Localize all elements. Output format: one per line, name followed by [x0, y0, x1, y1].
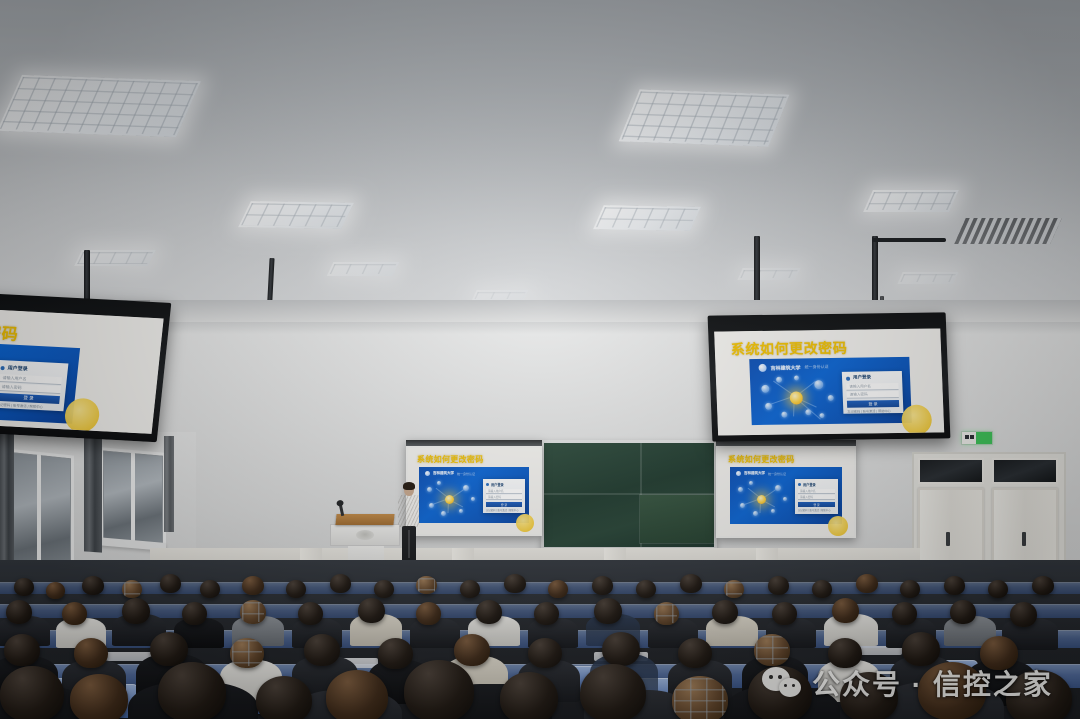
audience-head-foreground [1006, 670, 1072, 719]
presenter-legs [402, 526, 416, 564]
audience-head [242, 576, 264, 595]
slide-surface: 系统如何更改密码 吉林建筑大学 统一身份认证 [718, 448, 854, 536]
blackboard-sliding-panel [640, 495, 714, 543]
network-node [459, 509, 463, 513]
window-curtain [84, 435, 102, 552]
audience-head [754, 634, 790, 666]
login-submit-button: 登 录 [847, 400, 899, 408]
audience-head-foreground [500, 672, 558, 719]
audience-head-foreground [404, 660, 474, 719]
slide-header-org: 吉林建筑大学 [433, 471, 454, 476]
audience-head [298, 602, 323, 625]
right-ceiling-tv: 系统如何更改密码 吉林建筑大学 统一身份认证 [708, 312, 951, 441]
slide-body: 吉林建筑大学 统一身份认证 [730, 467, 842, 524]
audience-head [950, 600, 976, 624]
network-node [753, 511, 758, 516]
emergency-exit-sign [962, 432, 992, 444]
audience-head-foreground [70, 674, 128, 719]
network-node [794, 375, 799, 380]
network-node [819, 413, 824, 418]
presenter-hair [403, 482, 415, 490]
password-field: 请输入密码 [847, 391, 899, 399]
network-node [738, 487, 743, 492]
window-mullion [131, 453, 135, 545]
ceiling-haze [0, 0, 1080, 330]
door-handle-icon[interactable] [946, 532, 950, 546]
audience-head [712, 600, 738, 624]
slide-title: 系统如何更改密码 [730, 338, 847, 360]
login-footer-links: 忘记密码 | 账号激活 | 帮助中心 [798, 508, 835, 512]
network-node [765, 403, 772, 410]
slide-header: 吉林建筑大学 统一身份认证 [736, 471, 786, 476]
network-node [437, 481, 441, 485]
audience-head [980, 636, 1018, 670]
audience-head [636, 580, 656, 598]
network-node [805, 409, 811, 415]
slide-header: 吉林建筑大学 统一身份认证 [758, 363, 828, 372]
login-panel-icon [486, 483, 489, 486]
audience-head [654, 602, 679, 625]
login-panel-title: 用户登录 [491, 482, 521, 487]
audience-head [812, 580, 832, 598]
login-submit-button: 登 录 [486, 502, 522, 507]
slide-surface: 系统如何更改密码 吉林建筑大学 统一身份认证 [714, 328, 944, 435]
network-node [783, 497, 787, 501]
audience-head [1032, 576, 1054, 595]
password-field: 请输入密码 [798, 495, 835, 500]
audience-head [528, 638, 562, 668]
audience-head [330, 574, 351, 593]
slide-header-system: 统一身份认证 [457, 472, 475, 476]
audience-head [678, 638, 712, 668]
network-node [775, 485, 781, 491]
network-node [771, 509, 775, 513]
network-node [471, 497, 475, 501]
slide-accent-blob [828, 516, 848, 536]
login-panel-icon [846, 377, 850, 381]
tv-mount-arm [872, 238, 946, 242]
university-logo-icon [736, 471, 741, 476]
audience-head [724, 580, 744, 598]
audience-head [594, 598, 622, 624]
network-diagram-graphic [423, 479, 479, 521]
login-panel-title: 用户登录 [853, 374, 897, 381]
left-projection-screen: 系统如何更改密码 吉林建筑大学 统一身份认证 [406, 440, 542, 536]
audience-head [1010, 602, 1037, 627]
network-diagram-graphic [756, 373, 840, 422]
audience-head [286, 580, 306, 598]
login-panel: 用户登录 请输入用户名 请输入密码 登 录 忘记密码 | 账号激活 | 帮助中心 [0, 360, 68, 412]
university-logo-icon [425, 471, 430, 476]
audience-head-foreground [326, 670, 388, 719]
audience-head [122, 598, 150, 624]
ceiling [0, 0, 1080, 330]
audience-head [240, 600, 266, 624]
audience-head [304, 634, 340, 666]
audience-head [892, 602, 917, 625]
login-panel-title: 用户登录 [7, 364, 62, 374]
audience-head-foreground [748, 666, 812, 719]
login-footer-links: 忘记密码 | 账号激活 | 帮助中心 [847, 408, 899, 414]
door-transom-window [992, 458, 1058, 484]
slide-title: 系统如何更改密码 [0, 314, 20, 345]
audience-head [62, 602, 87, 625]
audience-head [160, 574, 181, 593]
slide-header-org: 吉林建筑大学 [744, 471, 765, 476]
projection-screen-housing [406, 440, 542, 446]
audience-head [378, 638, 413, 669]
podium-emblem [356, 530, 374, 540]
audience-head [460, 580, 480, 598]
login-panel-icon [798, 483, 801, 486]
login-panel-title: 用户登录 [803, 482, 834, 487]
audience-area: ИЗ Я ДСЛ ORDAN [0, 560, 1080, 719]
audience-head [374, 580, 394, 598]
audience-head [46, 582, 65, 599]
login-panel: 用户登录 请输入用户名 请输入密码 登 录 忘记密码 | 账号激活 | 帮助中心 [842, 371, 904, 414]
audience-head [150, 632, 188, 666]
audience-head [680, 574, 702, 593]
network-node [749, 481, 753, 485]
audience-head [416, 602, 441, 625]
audience-head-foreground [158, 662, 226, 719]
audience-head-foreground [580, 664, 646, 719]
slide-header-org: 吉林建筑大学 [770, 364, 800, 371]
slide-header-system: 统一身份认证 [805, 364, 829, 370]
podium-desktop [335, 514, 394, 525]
slide-title: 系统如何更改密码 [417, 454, 484, 465]
window-mullion [37, 455, 41, 577]
audience-head [900, 580, 920, 598]
network-node [427, 487, 432, 492]
network-node [781, 412, 787, 418]
slide-title: 系统如何更改密码 [728, 454, 795, 465]
network-node [761, 385, 769, 393]
slide-body: 吉林建筑大学 统一身份认证 [749, 357, 912, 425]
audience-head [476, 600, 502, 624]
audience-head [358, 598, 385, 623]
slide-accent-blob [901, 405, 932, 435]
audience-head-foreground [918, 662, 986, 719]
network-node [776, 377, 782, 383]
blackboard [544, 443, 714, 547]
slide-body: 吉林建筑大学 统一身份认证 [419, 467, 529, 523]
audience-head [832, 598, 859, 623]
network-node-active [790, 391, 804, 404]
audience-head [14, 578, 34, 596]
audience-head [74, 638, 108, 668]
username-field: 请输入用户名 [798, 489, 835, 494]
network-node [429, 503, 434, 508]
audience-head [82, 576, 104, 595]
slide-surface: 系统如何更改密码 吉林建筑大学 统一身份认证 [408, 448, 540, 534]
left-ceiling-tv: 系统如何更改密码 吉林建筑大学 统一身份认证 [0, 290, 171, 442]
tv-screen: 系统如何更改密码 吉林建筑大学 统一身份认证 [0, 306, 164, 434]
audience-head [454, 634, 490, 666]
audience-head [416, 576, 437, 594]
audience-head [182, 602, 207, 625]
slide-surface: 系统如何更改密码 吉林建筑大学 统一身份认证 [0, 306, 164, 434]
window-curtain [164, 436, 174, 532]
audience-head [504, 574, 526, 593]
audience-head [4, 634, 40, 666]
audience-head [902, 632, 940, 666]
slide-accent-blob [516, 514, 534, 532]
audience-head [534, 602, 559, 625]
login-panel: 用户登录 请输入用户名 请输入密码 登 录 忘记密码 | 账号激活 | 帮助中心 [483, 479, 525, 513]
network-node [814, 380, 823, 389]
audience-head [592, 576, 613, 595]
slide-header: 吉林建筑大学 统一身份认证 [425, 471, 475, 476]
network-node-active [445, 495, 454, 504]
audience-head-foreground [0, 666, 64, 719]
audience-head [772, 602, 797, 625]
audience-head [768, 576, 789, 595]
lecture-hall-photo: 系统如何更改密码 吉林建筑大学 统一身份认证 [0, 0, 1080, 719]
audience-head [988, 580, 1008, 598]
presenter-jacket [398, 495, 420, 527]
audience-head [548, 580, 568, 598]
audience-head [828, 638, 862, 668]
username-field: 请输入用户名 [486, 489, 522, 494]
university-logo-icon [758, 364, 766, 372]
network-node [828, 395, 834, 401]
network-node [463, 485, 469, 491]
slide-header-system: 统一身份认证 [768, 472, 786, 476]
tv-screen: 系统如何更改密码 吉林建筑大学 统一身份认证 [714, 328, 944, 435]
password-field: 请输入密码 [486, 495, 522, 500]
audience-head [200, 580, 220, 598]
audience-head [602, 632, 640, 666]
network-node [740, 503, 745, 508]
login-footer-links: 忘记密码 | 账号激活 | 帮助中心 [486, 508, 522, 512]
audience-head [6, 600, 32, 624]
audience-head-foreground [256, 676, 312, 719]
blackboard-frame [541, 440, 717, 550]
audience-head-foreground [672, 676, 728, 719]
audience-head [122, 580, 142, 598]
audience-head-foreground [840, 672, 898, 719]
username-field: 请输入用户名 [846, 383, 898, 391]
window-pane [100, 447, 166, 551]
door-handle-icon[interactable] [1022, 532, 1026, 546]
right-projection-screen: 系统如何更改密码 吉林建筑大学 统一身份认证 [716, 440, 856, 538]
network-node [441, 511, 446, 516]
network-node-active [757, 495, 766, 504]
audience-head [230, 638, 264, 668]
network-diagram-graphic [734, 479, 792, 521]
login-panel: 用户登录 请输入用户名 请输入密码 登 录 忘记密码 | 账号激活 | 帮助中心 [795, 479, 838, 514]
window-curtain [0, 434, 14, 580]
audience-head [856, 574, 878, 593]
login-submit-button: 登 录 [798, 502, 835, 507]
audience-head [944, 576, 965, 595]
login-panel-icon [0, 366, 4, 370]
door-transom-window [918, 458, 984, 484]
